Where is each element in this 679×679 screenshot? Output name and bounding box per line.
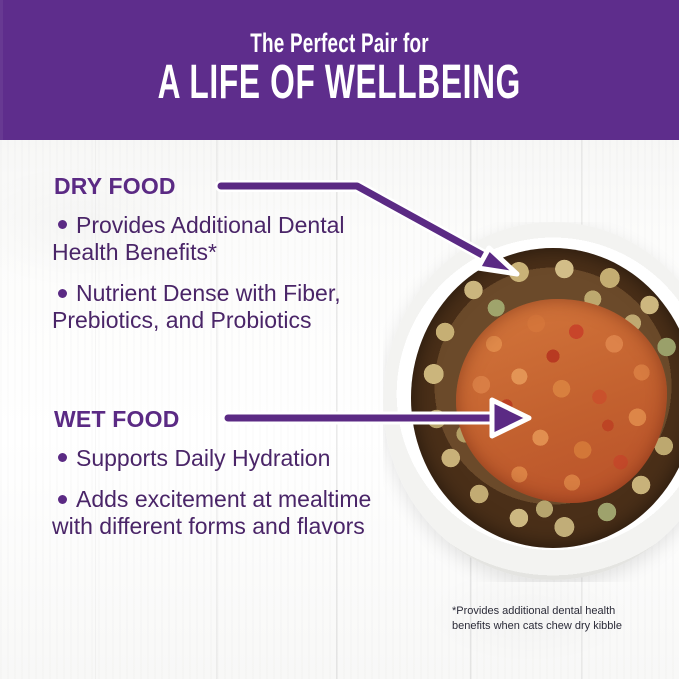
bullet-text: Nutrient Dense with Fiber, Prebiotics, a…	[52, 280, 341, 333]
wet-food-bullet-list: Supports Daily Hydration Adds excitement…	[52, 445, 382, 554]
list-item: Provides Additional Dental Health Benefi…	[52, 212, 382, 266]
bullet-text: Provides Additional Dental Health Benefi…	[52, 212, 345, 265]
list-item: Supports Daily Hydration	[52, 445, 382, 472]
bullet-text: Adds excitement at mealtime with differe…	[52, 486, 371, 539]
footnote-line-2: benefits when cats chew dry kibble	[452, 619, 667, 634]
dry-food-bullet-list: Provides Additional Dental Health Benefi…	[52, 212, 382, 349]
bowl-interior	[411, 248, 679, 548]
list-item: Adds excitement at mealtime with differe…	[52, 486, 382, 540]
header-banner: The Perfect Pair for A LIFE OF WELLBEING	[0, 0, 679, 140]
bullet-dot-icon	[58, 453, 67, 462]
bullet-text: Supports Daily Hydration	[76, 445, 330, 471]
list-item: Nutrient Dense with Fiber, Prebiotics, a…	[52, 280, 382, 334]
footnote-line-1: *Provides additional dental health	[452, 604, 667, 619]
poster-root: The Perfect Pair for A LIFE OF WELLBEING…	[0, 0, 679, 679]
bullet-dot-icon	[58, 495, 67, 504]
footnote: *Provides additional dental health benef…	[452, 604, 667, 634]
header-title: A LIFE OF WELLBEING	[158, 59, 521, 107]
header-subtitle: The Perfect Pair for	[250, 29, 429, 57]
bullet-dot-icon	[58, 289, 67, 298]
wet-food-heading: WET FOOD	[54, 406, 180, 433]
bullet-dot-icon	[58, 220, 67, 229]
content-panel: DRY FOOD Provides Additional Dental Heal…	[0, 140, 430, 679]
dry-food-heading: DRY FOOD	[54, 173, 176, 200]
